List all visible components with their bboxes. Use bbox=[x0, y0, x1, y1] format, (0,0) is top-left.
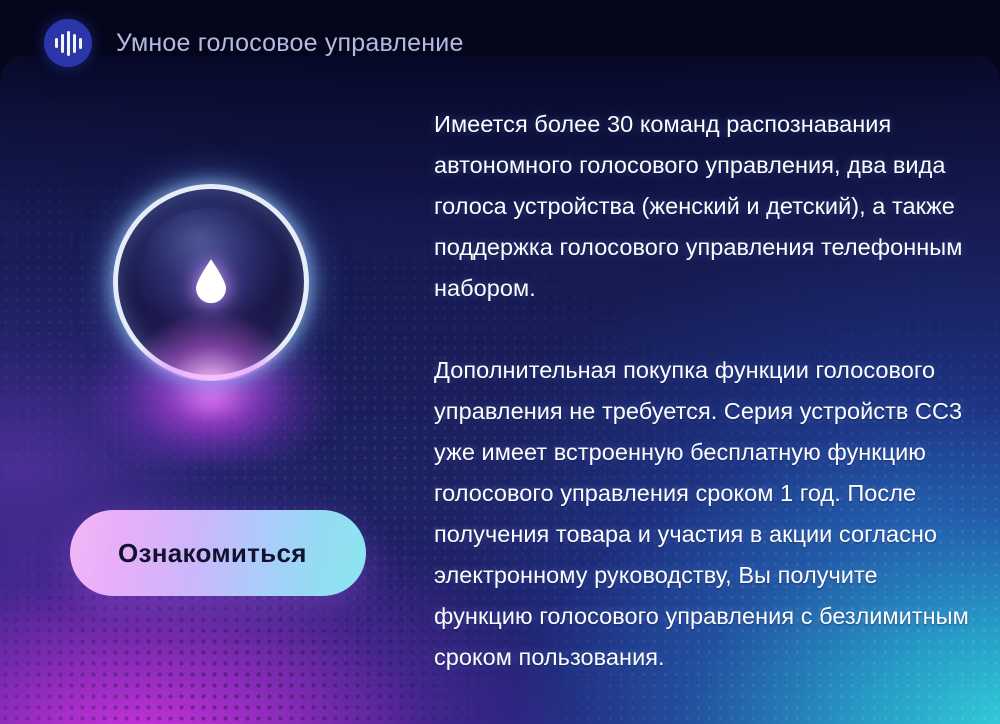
page-title: Умное голосовое управление bbox=[116, 29, 464, 58]
waveform-bar-2 bbox=[61, 34, 64, 53]
left-column: Ознакомиться bbox=[0, 56, 430, 724]
voice-control-promo-page: Умное голосовое управление Ознакомиться … bbox=[0, 0, 1000, 724]
waveform-bar-5 bbox=[79, 38, 82, 49]
explore-button[interactable]: Ознакомиться bbox=[70, 510, 366, 596]
teardrop-pin-icon bbox=[194, 259, 228, 303]
waveform-bar-1 bbox=[55, 38, 58, 48]
paragraph-1: Имеется более 30 команд распознавания ав… bbox=[434, 104, 974, 309]
page-header: Умное голосовое управление bbox=[0, 0, 1000, 86]
description-column: Имеется более 30 команд распознавания ав… bbox=[434, 104, 974, 678]
paragraph-2: Дополнительная покупка функции голосовог… bbox=[434, 350, 974, 678]
waveform-bar-4 bbox=[73, 34, 76, 53]
voice-assistant-orb-icon bbox=[113, 184, 309, 380]
waveform-bar-3 bbox=[67, 31, 70, 56]
voice-waveform-icon bbox=[44, 19, 92, 67]
